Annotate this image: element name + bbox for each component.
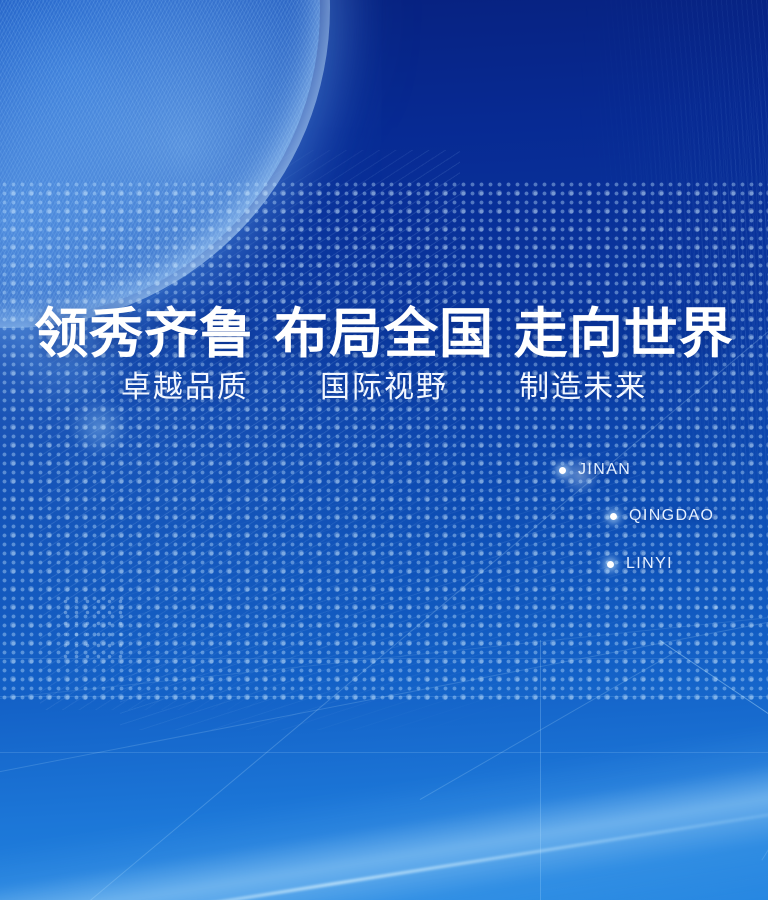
subtitle: 卓越品质 国际视野 制造未来 (0, 370, 768, 406)
city-marker-qingdao[interactable]: QINGDAO (610, 507, 714, 525)
location-dot-icon (610, 513, 617, 520)
location-dot-icon (559, 467, 566, 474)
hero-banner: 领秀齐鲁 布局全国 走向世界 卓越品质 国际视野 制造未来 JINAN QING… (0, 0, 768, 900)
subtitle-part-1: 卓越品质 (121, 370, 249, 405)
city-label: LINYI (626, 555, 673, 573)
city-label: JINAN (578, 461, 631, 479)
city-marker-linyi[interactable]: LINYI (607, 555, 673, 573)
location-dot-icon (607, 561, 614, 568)
banner-content: 领秀齐鲁 布局全国 走向世界 卓越品质 国际视野 制造未来 JINAN QING… (0, 0, 768, 900)
subtitle-part-3: 制造未来 (519, 370, 647, 405)
city-marker-jinan[interactable]: JINAN (559, 461, 631, 479)
page-title: 领秀齐鲁 布局全国 走向世界 (0, 304, 768, 363)
city-label: QINGDAO (629, 507, 714, 525)
subtitle-part-2: 国际视野 (320, 370, 448, 405)
